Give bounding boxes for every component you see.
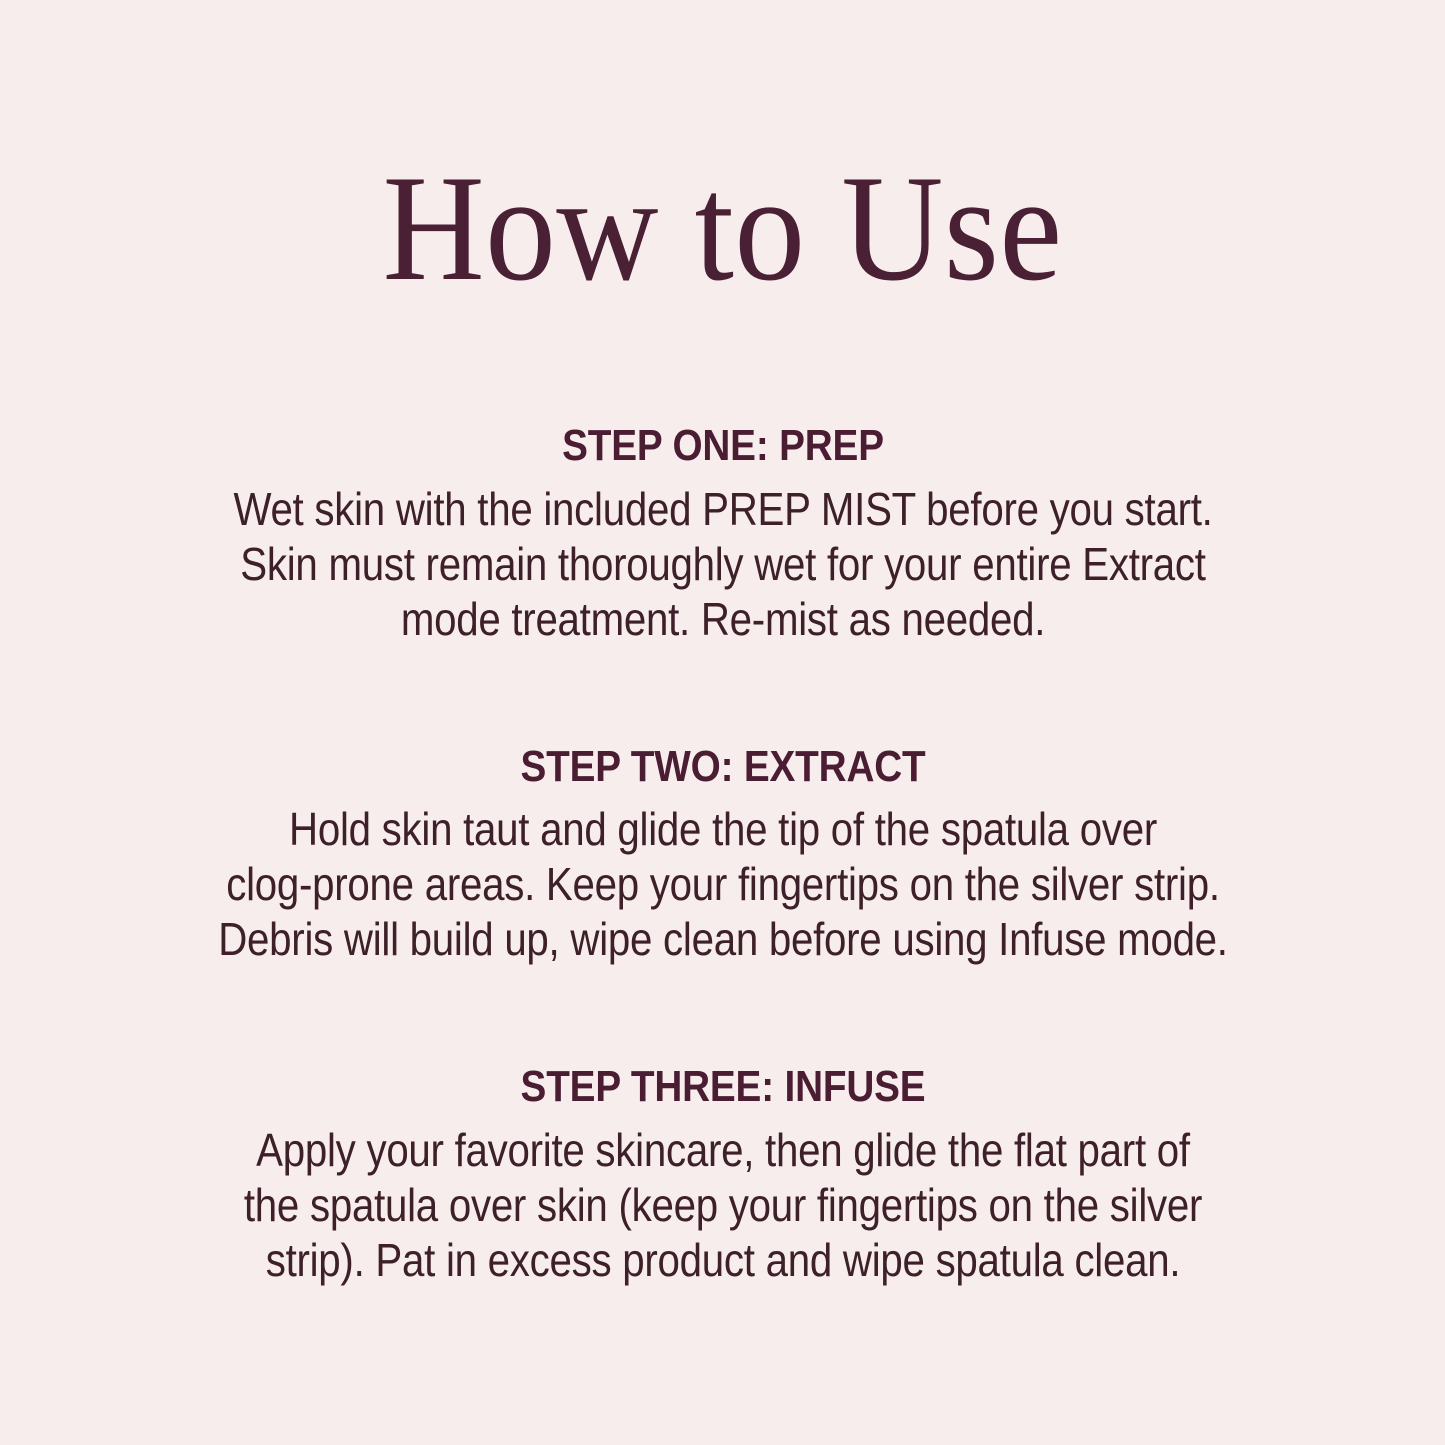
step-two-body: Hold skin taut and glide the tip of the … bbox=[206, 802, 1239, 967]
step-two-heading: STEP TWO: EXTRACT bbox=[203, 743, 1241, 791]
step-one-body-line-2: Skin must remain thoroughly wet for your… bbox=[206, 537, 1239, 592]
step-one-heading: STEP ONE: PREP bbox=[203, 422, 1241, 470]
step-two-body-line-1: Hold skin taut and glide the tip of the … bbox=[206, 802, 1239, 857]
step-two-body-line-2: clog-prone areas. Keep your fingertips o… bbox=[206, 857, 1239, 912]
step-three-body-line-3: strip). Pat in excess product and wipe s… bbox=[206, 1233, 1239, 1288]
step-three-body-line-1: Apply your favorite skincare, then glide… bbox=[206, 1123, 1239, 1178]
step-three-body: Apply your favorite skincare, then glide… bbox=[206, 1123, 1239, 1288]
step-one-body-line-1: Wet skin with the included PREP MIST bef… bbox=[206, 482, 1239, 537]
step-two-body-line-3: Debris will build up, wipe clean before … bbox=[206, 912, 1239, 967]
step-two: STEP TWO: EXTRACT Hold skin taut and gli… bbox=[133, 743, 1313, 968]
step-one-body-line-3: mode treatment. Re-mist as needed. bbox=[206, 592, 1239, 647]
how-to-use-infographic: How to Use STEP ONE: PREP Wet skin with … bbox=[0, 0, 1445, 1445]
step-three-body-line-2: the spatula over skin (keep your fingert… bbox=[206, 1178, 1239, 1233]
step-three: STEP THREE: INFUSE Apply your favorite s… bbox=[133, 1063, 1313, 1288]
page-title: How to Use bbox=[383, 0, 1063, 304]
step-one: STEP ONE: PREP Wet skin with the include… bbox=[133, 422, 1313, 647]
step-one-body: Wet skin with the included PREP MIST bef… bbox=[206, 482, 1239, 647]
steps-list: STEP ONE: PREP Wet skin with the include… bbox=[133, 422, 1313, 1288]
step-three-heading: STEP THREE: INFUSE bbox=[203, 1063, 1241, 1111]
